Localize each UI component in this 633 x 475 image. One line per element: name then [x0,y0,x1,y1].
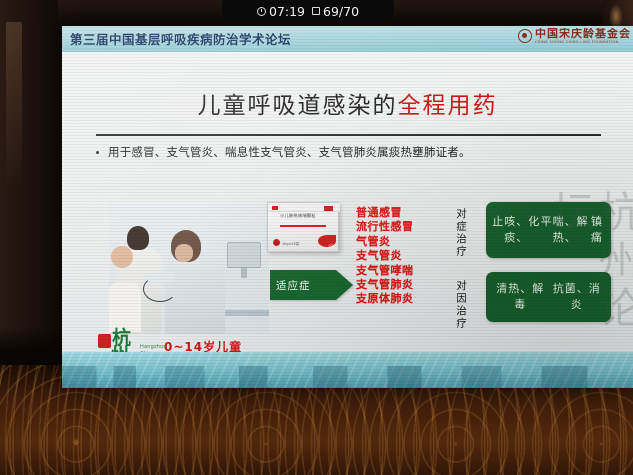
condition-item: 支气管哮喘 [356,264,414,278]
package-spec: 10g×12袋 [282,241,299,246]
label-etiological-treatment: 对因治疗 [454,280,467,332]
condition-item: 流行性感冒 [356,220,414,234]
slide-title-main: 儿童呼吸道感染的 [198,93,398,119]
wall-panel [6,22,22,192]
slide-counter-icon [312,7,320,15]
photo-child-head [111,246,133,268]
package-rule [280,225,326,227]
hud-time: 07:19 [269,4,305,19]
condition-item: 支原体肺炎 [356,292,414,306]
screen-footer-strip [62,352,633,388]
slide-body: 儿童呼吸道感染的全程用药 用于感冒、支气管炎、喘息性支气管炎、支气管肺炎属痰热壅… [62,52,633,352]
conference-banner: 第三届中国基层呼吸疾病防治学术论坛 中国宋庆龄基金会 CHINA SOONG C… [62,26,633,52]
condition-list: 普通感冒 流行性感冒 气管炎 支气管炎 支气管哮喘 支气管肺炎 支原体肺炎 [356,206,414,307]
stethoscope-icon [143,276,177,302]
projection-screen: 第三届中国基层呼吸疾病防治学术论坛 中国宋庆龄基金会 CHINA SOONG C… [62,26,633,388]
foundation-logo: 中国宋庆龄基金会 CHINA SOONG CHING LING FOUNDATI… [518,28,631,45]
conference-room-photo: 第三届中国基层呼吸疾病防治学术论坛 中国宋庆龄基金会 CHINA SOONG C… [0,0,633,475]
slide-bullet-text: 用于感冒、支气管炎、喘息性支气管炎、支气管肺炎属痰热壅肺证者。 [108,144,471,160]
slide-bullet: 用于感冒、支气管炎、喘息性支气管炎、支气管肺炎属痰热壅肺证者。 [96,144,616,160]
medicine-package: 小儿肺热咳喘颗粒 10g×12袋 OTC [267,202,339,252]
foundation-logo-cn: 中国宋庆龄基金会 [535,28,631,39]
presenter-hud: 07:19 69/70 [222,0,394,22]
condition-item: 支气管肺炎 [356,278,414,292]
slide-title: 儿童呼吸道感染的全程用药 [62,86,633,120]
condition-item: 支气管炎 [356,249,414,263]
slide-title-accent: 全程用药 [398,93,498,119]
skyline-graphic [62,366,633,388]
outcome-box-etiological: 清热、解毒抗菌、消炎 [486,272,611,322]
hud-slide-number: 69/70 [323,4,359,19]
package-accent-right [324,206,333,211]
photo-monitor [227,242,261,268]
bullet-dot-icon [96,151,99,154]
clinic-photo [109,204,269,334]
package-brand-logo-icon [273,239,280,246]
city-logo-en-line1: Hangzhou [140,344,168,351]
photo-monitor-stand [241,268,247,278]
indication-arrow-label: 适应症 [276,278,311,293]
title-divider [96,134,601,136]
condition-item: 普通感冒 [356,206,414,220]
package-product-name: 小儿肺热咳喘颗粒 [280,213,316,219]
hud-slide-counter: 69/70 [312,4,359,19]
label-symptomatic-treatment: 对症治疗 [454,208,467,260]
condition-item: 气管炎 [356,235,414,249]
package-badge: OTC [329,244,336,248]
foundation-seal-icon [518,29,532,43]
clock-icon [257,7,266,16]
photo-child-body [109,282,141,332]
hud-clock: 07:19 [257,4,305,19]
package-accent-left [272,206,278,210]
indication-arrow: 适应症 [270,270,336,300]
photo-parent-head [127,226,149,250]
outcome-box-symptomatic: 止咳、化痰、平喘、解热、镇痛 [486,202,611,258]
photo-doctor-face [175,244,193,262]
foundation-logo-en: CHINA SOONG CHING LING FOUNDATION [535,41,631,45]
conference-banner-title: 第三届中国基层呼吸疾病防治学术论坛 [70,29,291,48]
